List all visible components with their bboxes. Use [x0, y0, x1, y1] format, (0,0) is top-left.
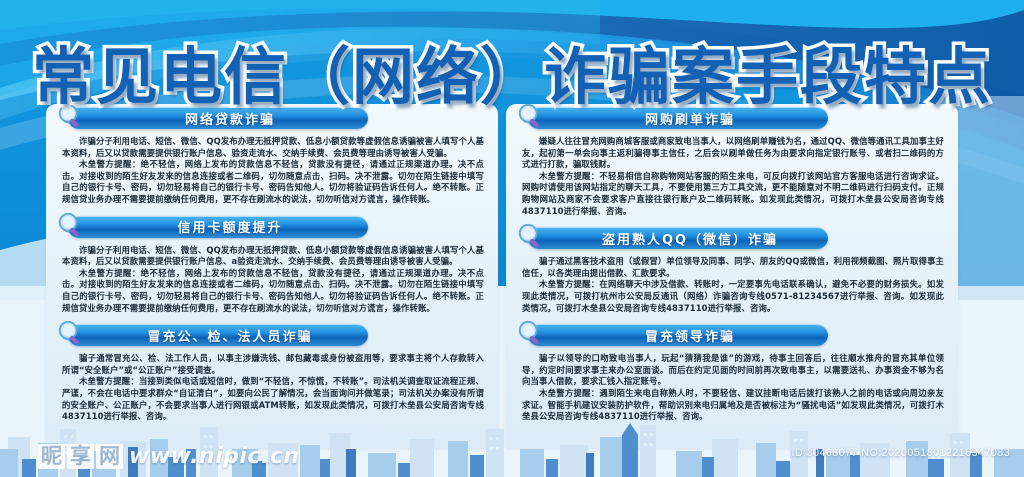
paragraph: 木垒警方提醒：绝不轻信，网络上发布的贷款信息不轻信，贷款没有捷径，请通过正规渠道…	[62, 159, 484, 205]
section-body: 骗子以领导的口吻致电当事人，玩起“猜猜我是谁”的游戏，待事主回答后，往往顺水推舟…	[514, 351, 950, 427]
watermark-char: 网	[96, 444, 123, 469]
section-title-pill: 冒充公、检、法人员诈骗	[68, 324, 368, 346]
paragraph: 骗子通过黑客技术盗用（或假冒）单位领导及同事、同学、朋友的QQ或微信，利用视频截…	[522, 256, 944, 279]
section-title: 冒充公、检、法人员诈骗	[147, 326, 312, 345]
section-header: 盗用熟人QQ（微信）诈骗	[514, 224, 950, 254]
watermark-char: 昵	[38, 444, 65, 469]
paragraph: 木垒警方提醒：不轻易相信自称购物网站客服的陌生来电，可反向拨打该网站官方客服电话…	[522, 171, 944, 217]
section-body: 诈骗分子利用电话、短信、微信、QQ发布办理无抵押贷款、低息小额贷款等虚假信息诱骗…	[54, 134, 490, 210]
paragraph: 诈骗分子利用电话、短信、微信、QQ发布办理无抵押贷款、低息小额贷款等虚假信息诱骗…	[62, 245, 484, 268]
section-title-pill: 盗用熟人QQ（微信）诈骗	[528, 227, 828, 249]
section-online-shopping-brushing-fraud: 网购刷单诈骗 嫌疑人往往冒充网购商城客服或商家致电当事人，以网络刷单赚钱为名，通…	[506, 104, 958, 221]
section-impersonating-leader-fraud: 冒充领导诈骗 骗子以领导的口吻致电当事人，玩起“猜猜我是谁”的游戏，待事主回答后…	[506, 321, 958, 427]
paragraph: 骗子以领导的口吻致电当事人，玩起“猜猜我是谁”的游戏，待事主回答后，往往顺水推舟…	[522, 353, 944, 388]
section-body: 骗子通过黑客技术盗用（或假冒）单位领导及同事、同学、朋友的QQ或微信，利用视频截…	[514, 254, 950, 318]
magnifier-icon	[56, 211, 86, 241]
paragraph: 诈骗分子利用电话、短信、微信、QQ发布办理无抵押贷款、低息小额贷款等虚假信息诱骗…	[62, 136, 484, 159]
paragraph: 木垒警方提醒：绝不轻信，网络上发布的贷款信息不轻信，贷款没有捷径，请通过正规渠道…	[62, 268, 484, 314]
site-watermark: 昵 享 网 www.nipic.cn	[38, 444, 300, 469]
section-body: 诈骗分子利用电话、短信、微信、QQ发布办理无抵押贷款、低息小额贷款等虚假信息诱骗…	[54, 243, 490, 319]
poster-stage: 常见电信（网络）诈骗案手段特点 网络贷款诈骗 诈骗分子利用电话、短信、微信、QQ…	[0, 0, 1024, 477]
watermark-url: www.nipic.cn	[129, 444, 300, 469]
watermark-logo-characters: 昵 享 网	[38, 444, 123, 469]
right-content-panel: 网购刷单诈骗 嫌疑人往往冒充网购商城客服或商家致电当事人，以网络刷单赚钱为名，通…	[506, 104, 958, 448]
magnifier-icon	[516, 222, 546, 252]
magnifier-icon	[56, 319, 86, 349]
section-body: 嫌疑人往往冒充网购商城客服或商家致电当事人，以网络刷单赚钱为名，通过QQ、微信等…	[514, 134, 950, 221]
section-online-loan-fraud: 网络贷款诈骗 诈骗分子利用电话、短信、微信、QQ发布办理无抵押贷款、低息小额贷款…	[46, 104, 498, 210]
watermark-char: 享	[67, 444, 94, 469]
section-body: 骗子通常冒充公、检、法工作人员，以事主涉嫌洗钱、邮包藏毒或身份被盗用等，要求事主…	[54, 351, 490, 427]
section-header: 冒充领导诈骗	[514, 321, 950, 351]
page-title: 常见电信（网络）诈骗案手段特点	[0, 26, 1024, 116]
section-title: 信用卡额度提升	[177, 217, 282, 236]
paragraph: 木垒警方提醒：遇到陌生来电自称熟人时，不要轻信、建议挂断电话后拨打该熟人之前的电…	[522, 388, 944, 423]
paragraph: 木垒警方提醒：在网络聊天中涉及借款、转账时，一定要事先电话联系确认，避免不必要的…	[522, 279, 944, 314]
section-header: 信用卡额度提升	[54, 213, 490, 243]
paragraph: 木垒警方提醒：当接到类似电话或短信时，做到“不轻信，不惊慌，不转账”。司法机关调…	[62, 376, 484, 422]
paragraph: 骗子通常冒充公、检、法工作人员，以事主涉嫌洗钱、邮包藏毒或身份被盗用等，要求事主…	[62, 353, 484, 376]
section-title: 盗用熟人QQ（微信）诈骗	[602, 229, 778, 248]
image-id-tag: ID:30468077 NO:20200518012216347083	[792, 447, 1010, 459]
section-title-pill: 信用卡额度提升	[68, 216, 368, 238]
section-header: 冒充公、检、法人员诈骗	[54, 321, 490, 351]
paragraph: 嫌疑人往往冒充网购商城客服或商家致电当事人，以网络刷单赚钱为名，通过QQ、微信等…	[522, 136, 944, 171]
section-impersonating-officials-fraud: 冒充公、检、法人员诈骗 骗子通常冒充公、检、法工作人员，以事主涉嫌洗钱、邮包藏毒…	[46, 321, 498, 427]
section-title: 冒充领导诈骗	[645, 326, 735, 345]
section-credit-card-limit-fraud: 信用卡额度提升 诈骗分子利用电话、短信、微信、QQ发布办理无抵押贷款、低息小额贷…	[46, 213, 498, 319]
left-content-panel: 网络贷款诈骗 诈骗分子利用电话、短信、微信、QQ发布办理无抵押贷款、低息小额贷款…	[46, 104, 498, 448]
section-stolen-qq-wechat-fraud: 盗用熟人QQ（微信）诈骗 骗子通过黑客技术盗用（或假冒）单位领导及同事、同学、朋…	[506, 224, 958, 318]
magnifier-icon	[516, 319, 546, 349]
section-title-pill: 冒充领导诈骗	[528, 324, 828, 346]
